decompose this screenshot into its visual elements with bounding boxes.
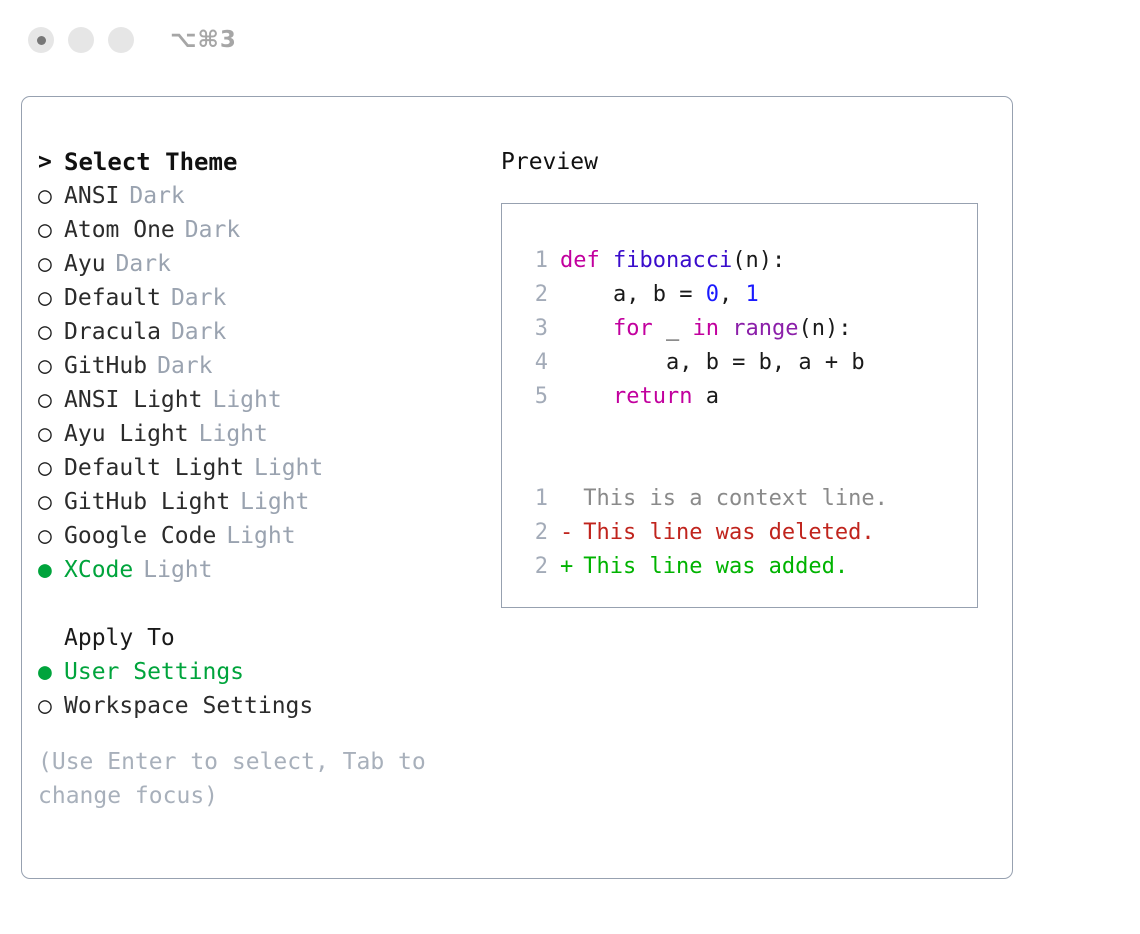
diff-line-sign: + [560,554,573,579]
theme-name-label: Ayu [64,251,106,277]
theme-list-item[interactable]: ○ Default Light Light [38,451,488,485]
radio-unselected-icon[interactable]: ○ [38,253,64,276]
theme-kind-label: Light [226,523,295,549]
diff-line-added: 2 + This line was added. [514,554,977,588]
code-token-keyword: for [613,316,653,341]
radio-unselected-icon[interactable]: ○ [38,219,64,242]
theme-list-item-selected[interactable]: ● XCode Light [38,553,488,587]
theme-list-item[interactable]: ○ Ayu Dark [38,247,488,281]
theme-name-label: Default [64,285,161,311]
preview-title-label: Preview [501,145,991,179]
radio-unselected-icon[interactable]: ○ [38,423,64,446]
theme-name-label: Atom One [64,217,175,243]
radio-unselected-icon[interactable]: ○ [38,457,64,480]
radio-unselected-icon[interactable]: ○ [38,287,64,310]
code-line-number: 3 [514,316,548,341]
code-line: 5 return a [514,384,977,418]
window-controls [28,27,134,53]
code-line-text: return a [560,384,719,409]
code-token-call: range [732,316,798,341]
theme-name-label: Google Code [64,523,216,549]
caret-icon: > [38,151,64,174]
keyboard-hint-text: (Use Enter to select, Tab to change focu… [38,745,438,813]
window-light-3-icon[interactable] [108,27,134,53]
radio-unselected-icon[interactable]: ○ [38,525,64,548]
code-token-plain: (n): [798,316,851,341]
apply-to-option-label: Workspace Settings [64,693,313,719]
code-token-plain: _ [653,316,693,341]
theme-name-label: Default Light [64,455,244,481]
diff-line-number: 1 [514,486,548,511]
theme-name-label: ANSI [64,183,119,209]
theme-name-label: Ayu Light [64,421,189,447]
apply-to-option[interactable]: ○ Workspace Settings [38,689,488,723]
radio-unselected-icon[interactable]: ○ [38,389,64,412]
theme-name-label: GitHub Light [64,489,230,515]
radio-unselected-icon[interactable]: ○ [38,185,64,208]
window-light-2-icon[interactable] [68,27,94,53]
code-line-number: 2 [514,282,548,307]
theme-name-label: GitHub [64,353,147,379]
theme-kind-label: Dark [116,251,171,277]
keyboard-shortcut-label: ⌥⌘3 [170,27,237,53]
code-line-number: 4 [514,350,548,375]
code-line-text: def fibonacci(n): [560,248,785,273]
theme-selector-window: > Select Theme ○ ANSI Dark ○ Atom One Da… [21,96,1013,879]
code-token-plain: a, b = [560,282,706,307]
code-token-plain [719,316,732,341]
diff-line-number: 2 [514,554,548,579]
apply-to-option-label: User Settings [64,659,244,685]
apply-to-label: Apply To [38,621,488,655]
theme-kind-label: Dark [185,217,240,243]
diff-line-sign: - [560,520,573,545]
diff-line-number: 2 [514,520,548,545]
code-line-text: for _ in range(n): [560,316,851,341]
theme-kind-label: Dark [171,319,226,345]
code-line: 2 a, b = 0, 1 [514,282,977,316]
radio-unselected-icon[interactable]: ○ [38,491,64,514]
theme-list-item[interactable]: ○ Default Dark [38,281,488,315]
code-line-number: 5 [514,384,548,409]
code-token-number: 0 [706,282,719,307]
diff-line-text: This line was deleted. [583,520,874,545]
theme-name-label: ANSI Light [64,387,202,413]
code-token-function: fibonacci [613,248,732,273]
code-token-number: 1 [745,282,758,307]
theme-list-item[interactable]: ○ Atom One Dark [38,213,488,247]
theme-kind-label: Dark [171,285,226,311]
code-token-plain [560,384,613,409]
theme-kind-label: Light [254,455,323,481]
radio-selected-icon[interactable]: ● [38,661,64,684]
theme-kind-label: Light [199,421,268,447]
apply-to-option-selected[interactable]: ● User Settings [38,655,488,689]
select-theme-heading-label: Select Theme [64,148,237,176]
code-token-plain: a, b = b, a + b [560,350,865,375]
code-line-number: 1 [514,248,548,273]
spacer [514,418,977,452]
radio-unselected-icon[interactable]: ○ [38,355,64,378]
code-token-keyword: def [560,248,613,273]
code-line-text: a, b = b, a + b [560,350,865,375]
code-line: 1 def fibonacci(n): [514,248,977,282]
theme-kind-label: Light [143,557,212,583]
theme-list-item[interactable]: ○ Dracula Dark [38,315,488,349]
window-titlebar: ⌥⌘3 [0,0,1140,80]
code-token-keyword: return [613,384,692,409]
theme-kind-label: Light [240,489,309,515]
code-token-plain: (n): [732,248,785,273]
theme-list-item[interactable]: ○ Ayu Light Light [38,417,488,451]
window-light-active-icon[interactable] [28,27,54,53]
spacer [514,452,977,486]
code-token-plain: , [719,282,746,307]
diff-line-text: This line was added. [583,554,848,579]
diff-line-deleted: 2 - This line was deleted. [514,520,977,554]
theme-kind-label: Dark [157,353,212,379]
preview-panel: Preview 1 def fibonacci(n): 2 a, b = 0, … [501,145,991,608]
radio-selected-icon[interactable]: ● [38,559,64,582]
theme-kind-label: Light [212,387,281,413]
diff-line-sign [560,486,573,511]
code-line: 3 for _ in range(n): [514,316,977,350]
diff-line-context: 1 This is a context line. [514,486,977,520]
code-token-plain [560,316,613,341]
code-token-plain: a [692,384,719,409]
theme-list-item[interactable]: ○ GitHub Light Light [38,485,488,519]
radio-unselected-icon[interactable]: ○ [38,695,64,718]
theme-name-label: Dracula [64,319,161,345]
diff-line-text: This is a context line. [583,486,888,511]
code-line-text: a, b = 0, 1 [560,282,759,307]
preview-code-box: 1 def fibonacci(n): 2 a, b = 0, 1 3 for … [501,203,978,608]
code-token-keyword: in [692,316,719,341]
theme-kind-label: Dark [129,183,184,209]
select-theme-heading: > Select Theme [38,145,488,179]
theme-list-panel: > Select Theme ○ ANSI Dark ○ Atom One Da… [38,145,488,813]
theme-list-item[interactable]: ○ ANSI Light Light [38,383,488,417]
theme-name-label: XCode [64,557,133,583]
code-line: 4 a, b = b, a + b [514,350,977,384]
theme-list-item[interactable]: ○ Google Code Light [38,519,488,553]
spacer [38,587,488,621]
theme-list-item[interactable]: ○ GitHub Dark [38,349,488,383]
radio-unselected-icon[interactable]: ○ [38,321,64,344]
theme-list-item[interactable]: ○ ANSI Dark [38,179,488,213]
